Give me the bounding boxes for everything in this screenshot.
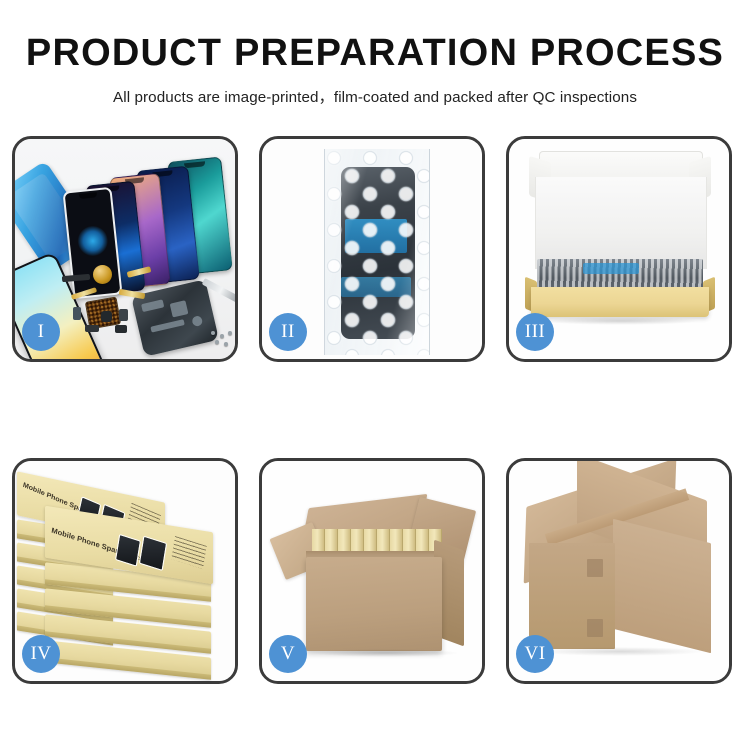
step-badge-2: II xyxy=(269,313,307,351)
small-component-part xyxy=(115,325,127,333)
drop-shadow xyxy=(310,649,460,657)
box-lid-window xyxy=(139,536,167,571)
notch xyxy=(78,192,96,199)
box-lid-text-lines xyxy=(171,536,206,569)
housing-chip xyxy=(170,300,189,317)
process-step-panel-2: II xyxy=(259,136,485,362)
step-badge-1: I xyxy=(22,313,60,351)
bubble-wrap-pack xyxy=(324,149,430,355)
screws-group xyxy=(211,331,233,347)
step-badge-5: V xyxy=(269,635,307,673)
step-badge-4: IV xyxy=(22,635,60,673)
small-component-part xyxy=(119,309,128,321)
page-title: PRODUCT PREPARATION PROCESS xyxy=(0,34,750,72)
carton-tab xyxy=(587,559,603,577)
housing-chip xyxy=(141,299,164,312)
carton-tab xyxy=(587,619,603,637)
process-step-panel-1: I xyxy=(12,136,238,362)
sealed-shipping-carton xyxy=(525,483,717,659)
drop-shadow xyxy=(535,647,705,656)
process-step-panel-4: Mobile Phone Spare Parts Mobile Phone Sp… xyxy=(12,458,238,684)
mailer-front-panel xyxy=(531,287,709,317)
box-lid-window xyxy=(115,534,141,567)
small-component-part xyxy=(73,307,81,320)
mailer-interior xyxy=(535,177,707,269)
carton-front-panel xyxy=(306,557,442,651)
plastic-sheen xyxy=(325,149,429,355)
housing-chip xyxy=(150,319,184,332)
small-component-part xyxy=(101,311,112,322)
notch xyxy=(184,161,205,168)
page-subtitle: All products are image-printed，film-coat… xyxy=(0,85,750,107)
step-badge-3: III xyxy=(516,313,554,351)
drop-shadow xyxy=(541,317,701,325)
carton-side-right xyxy=(613,519,711,653)
step-badge-6: VI xyxy=(516,635,554,673)
small-component-part xyxy=(85,325,99,332)
process-step-panel-5: V xyxy=(259,458,485,684)
vibration-motor-part xyxy=(93,265,112,284)
housing-camera xyxy=(191,315,203,327)
open-shipping-carton xyxy=(274,483,474,663)
process-steps-grid: I II xyxy=(12,136,738,684)
open-mailer-box xyxy=(523,151,717,333)
process-step-panel-6: VI xyxy=(506,458,732,684)
process-step-panel-3: III xyxy=(506,136,732,362)
page-header: PRODUCT PREPARATION PROCESS All products… xyxy=(0,0,750,107)
